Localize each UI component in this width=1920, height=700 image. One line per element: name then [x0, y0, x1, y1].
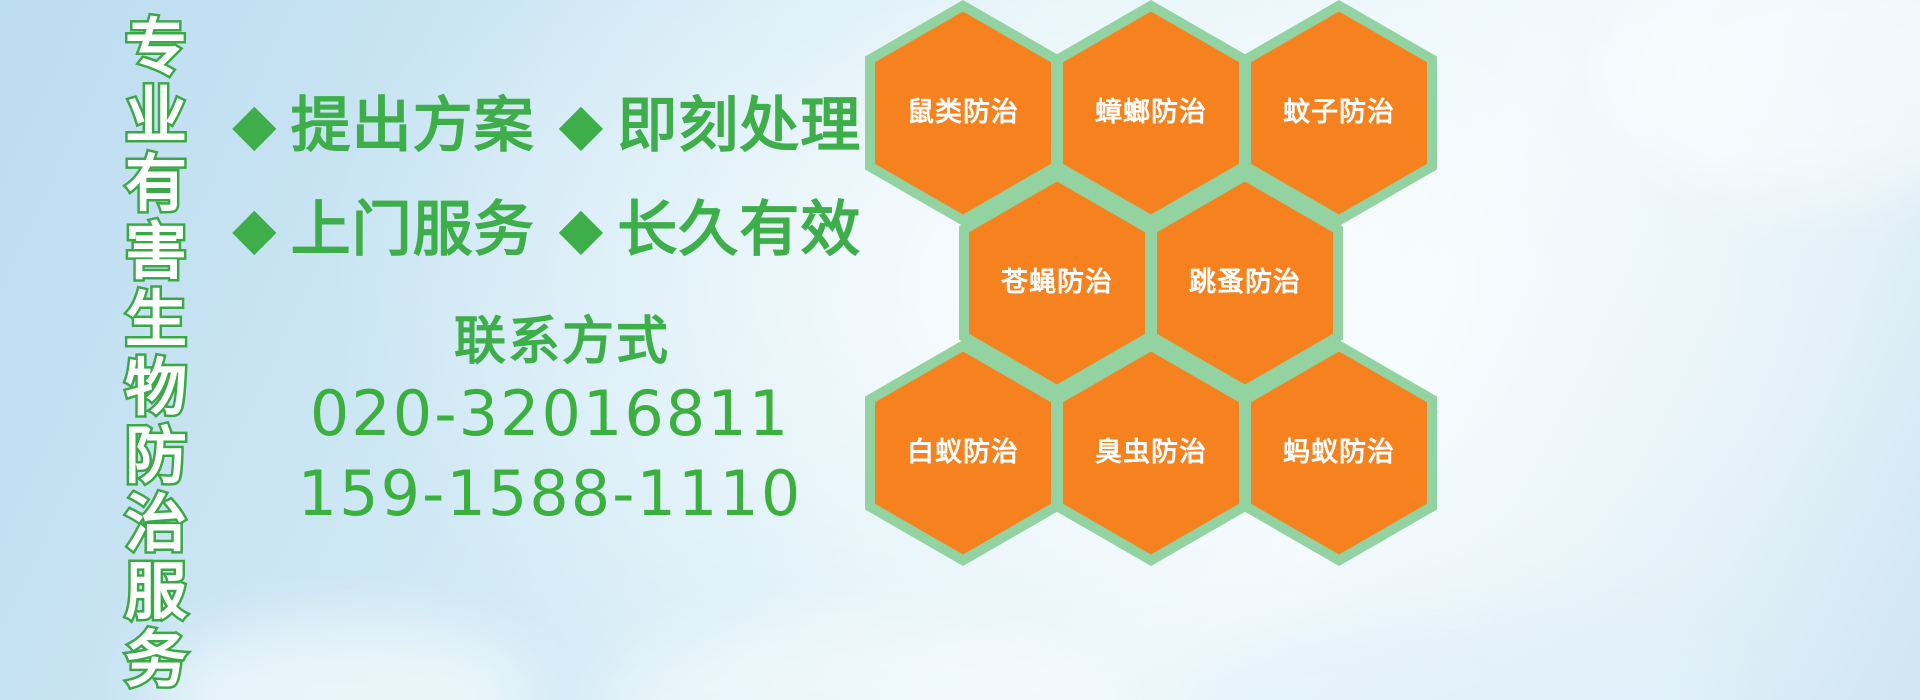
vertical-headline-char: 专 [125, 14, 187, 82]
background-blur-blob [1180, 610, 1740, 700]
hex-inner: 鼠类防治 [875, 12, 1051, 215]
contact-title: 联系方式 [252, 310, 872, 374]
vertical-headline-char: 防 [125, 422, 187, 490]
phone-landline[interactable]: 020-32016811 [228, 374, 872, 454]
diamond-bullet-icon: ◆ [559, 95, 604, 153]
background-blur-blob [600, 620, 1120, 700]
vertical-headline-char: 生 [125, 286, 187, 354]
diamond-bullet-icon: ◆ [559, 199, 604, 257]
diamond-bullet-icon: ◆ [232, 95, 277, 153]
vertical-headline-char: 物 [125, 354, 187, 422]
hex-label: 蚂蚁防治 [1283, 438, 1395, 468]
vertical-headline-char: 服 [125, 558, 187, 626]
feature-label: 即刻处理 [617, 96, 861, 156]
background-blur-blob [150, 620, 530, 700]
hex-label: 臭虫防治 [1095, 438, 1207, 468]
phone-mobile[interactable]: 159-1588-1110 [228, 454, 872, 534]
diamond-bullet-icon: ◆ [232, 199, 277, 257]
vertical-headline-char: 有 [125, 150, 187, 218]
contact-block: 联系方式 020-32016811 159-1588-1110 [232, 310, 872, 534]
feature-item-door-to-door-service: ◆ 上门服务 [232, 200, 535, 260]
feature-item-immediate-handling: ◆ 即刻处理 [559, 96, 862, 156]
hex-inner: 苍蝇防治 [969, 182, 1145, 385]
feature-label: 上门服务 [291, 200, 535, 260]
hex-label: 蚊子防治 [1283, 98, 1395, 128]
pest-control-service-banner: 专 业 有 害 生 物 防 治 服 务 ◆ 提出方案 ◆ 即刻处理 ◆ 上门服务 [0, 0, 1920, 700]
feature-label: 提出方案 [291, 96, 535, 156]
service-honeycomb: 鼠类防治 蟑螂防治 蚊子防治 苍蝇防治 跳蚤防治 白蚁防治 [855, 0, 1475, 574]
hex-label: 苍蝇防治 [1001, 268, 1113, 298]
feature-label: 长久有效 [617, 200, 861, 260]
feature-row: ◆ 上门服务 ◆ 长久有效 [232, 178, 872, 282]
hex-label: 跳蚤防治 [1189, 268, 1301, 298]
vertical-headline-char: 治 [125, 490, 187, 558]
hex-inner: 跳蚤防治 [1157, 182, 1333, 385]
hex-inner: 臭虫防治 [1063, 352, 1239, 555]
background-blur-blob [1600, 0, 1920, 200]
hex-inner: 白蚁防治 [875, 352, 1051, 555]
feature-item-long-lasting-effect: ◆ 长久有效 [559, 200, 862, 260]
vertical-headline-char: 务 [125, 626, 187, 694]
vertical-headline-char: 害 [125, 218, 187, 286]
hex-label: 蟑螂防治 [1095, 98, 1207, 128]
hex-inner: 蚂蚁防治 [1251, 352, 1427, 555]
hex-inner: 蟑螂防治 [1063, 12, 1239, 215]
hex-label: 白蚁防治 [907, 438, 1019, 468]
vertical-headline: 专 业 有 害 生 物 防 治 服 务 [104, 14, 208, 574]
hex-label: 鼠类防治 [907, 98, 1019, 128]
feature-row: ◆ 提出方案 ◆ 即刻处理 [232, 74, 872, 178]
feature-list: ◆ 提出方案 ◆ 即刻处理 ◆ 上门服务 ◆ 长久有效 [232, 74, 872, 282]
vertical-headline-char: 业 [125, 82, 187, 150]
hex-inner: 蚊子防治 [1251, 12, 1427, 215]
feature-item-propose-plan: ◆ 提出方案 [232, 96, 535, 156]
